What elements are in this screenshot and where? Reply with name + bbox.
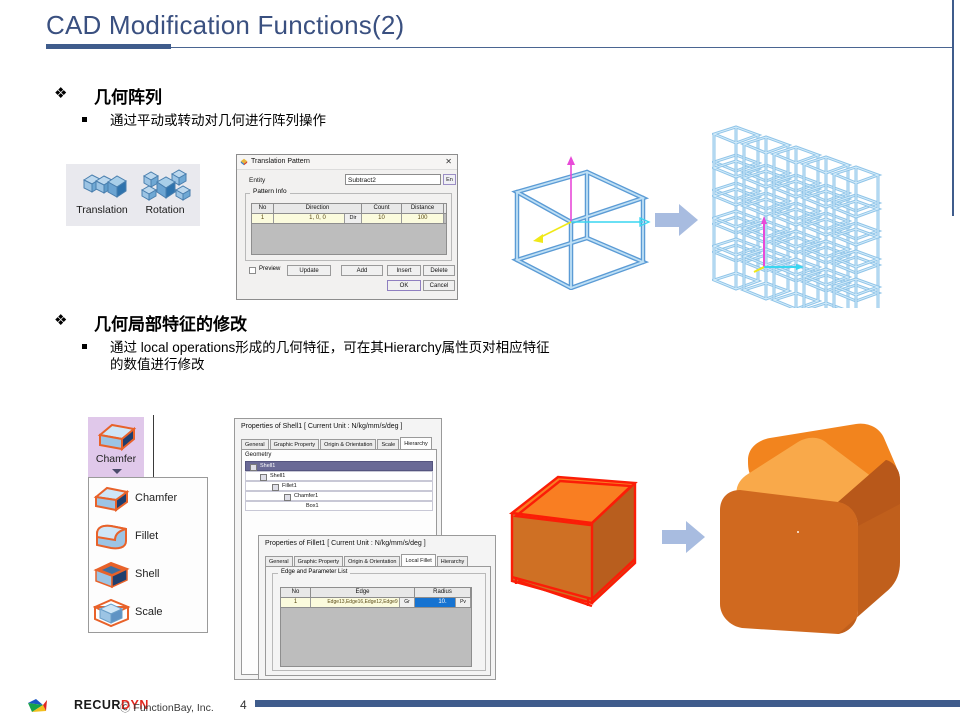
arrow-right-icon-2 <box>660 517 708 557</box>
chamfer-icon <box>96 421 138 453</box>
ribbon-divider <box>153 415 154 480</box>
menu-item-shell[interactable]: Shell <box>93 558 205 592</box>
cell-radius[interactable]: 10. Pv <box>415 598 471 607</box>
pattern-info-grid: No Direction Count Distance 1 1, 0, 0 Di… <box>251 203 447 255</box>
cell-direction[interactable]: 1, 0, 0 Dir <box>274 214 362 223</box>
shell-dialog-title: Properties of Shell1 [ Current Unit : N/… <box>241 423 402 430</box>
square-bullet-icon <box>82 344 87 349</box>
translation-icon <box>70 166 134 204</box>
table-row[interactable]: 1 Edge13,Edge16,Edge12,Edge9 Gr 10. Pv <box>281 598 471 608</box>
menu-item-scale[interactable]: Scale <box>93 596 205 630</box>
diamond-bullet-icon: ❖ <box>54 84 67 102</box>
col-radius: Radius <box>415 588 471 597</box>
footer-accent-bar <box>255 700 960 707</box>
page-title: CAD Modification Functions(2) <box>46 10 404 41</box>
copyright-text: Ⓒ FunctionBay, Inc. <box>120 700 214 715</box>
tree-node-label: Shell1 <box>270 472 285 480</box>
translation-label: Translation <box>70 204 134 216</box>
col-no: No <box>281 588 311 597</box>
cell-edge[interactable]: Edge13,Edge16,Edge12,Edge9 Gr <box>311 598 415 607</box>
cell-edge-text: Edge13,Edge16,Edge12,Edge9 <box>327 599 397 605</box>
close-icon[interactable]: ✕ <box>445 157 452 166</box>
recurdyn-star-icon <box>26 698 66 714</box>
solid-cube-after <box>708 414 926 646</box>
grid-header-row: No Edge Radius <box>281 588 471 598</box>
ok-button[interactable]: OK <box>387 280 421 291</box>
slide-title-bar: CAD Modification Functions(2) <box>0 0 960 52</box>
chamfer-button-label: Chamfer <box>88 453 144 465</box>
menu-item-label: Scale <box>135 606 163 618</box>
rotation-tool-button[interactable]: Rotation <box>134 166 196 224</box>
tree-node-root[interactable]: Shell1 <box>245 461 433 471</box>
solid-cube-before <box>500 455 650 615</box>
dialog-title: Translation Pattern <box>251 158 310 165</box>
translation-pattern-dialog: Translation Pattern ✕ Entity Subtract2 E… <box>236 154 458 300</box>
cell-direction-text: 1, 0, 0 <box>309 215 326 221</box>
wireframe-cube-array-after <box>712 112 910 308</box>
title-accent-bar <box>46 44 171 49</box>
fillet-icon <box>93 522 131 552</box>
page-number: 4 <box>240 698 247 712</box>
edge-parameter-grid: No Edge Radius 1 Edge13,Edge16,Edge12,Ed… <box>280 587 472 667</box>
recurdyn-logo: RECURDYN <box>26 698 118 714</box>
grid-header-row: No Direction Count Distance <box>252 204 446 214</box>
pattern-toolbar: Translation Rotation <box>66 164 200 226</box>
pattern-info-label: Pattern Info <box>250 188 290 195</box>
chamfer-icon <box>93 484 131 514</box>
update-button[interactable]: Update <box>287 265 331 276</box>
fillet-dialog-title: Properties of Fillet1 [ Current Unit : N… <box>265 540 426 547</box>
app-icon <box>240 158 248 166</box>
cancel-button[interactable]: Cancel <box>423 280 455 291</box>
edge-picker-button[interactable]: Gr <box>399 598 414 607</box>
cell-distance: 100 <box>402 214 444 223</box>
table-row[interactable]: 1 1, 0, 0 Dir 10 100 <box>252 214 446 224</box>
tree-node-label: Box1 <box>306 502 319 510</box>
scale-icon <box>93 598 131 628</box>
cell-count: 10 <box>362 214 402 223</box>
col-no: No <box>252 204 274 213</box>
geometry-tree: Shell1 Shell1 Fillet1 Chamfer1 Box1 <box>245 461 433 511</box>
cell-no: 1 <box>281 598 311 607</box>
rotation-icon <box>134 166 196 204</box>
col-direction: Direction <box>274 204 362 213</box>
shell-icon <box>93 560 131 590</box>
arrow-right-icon-1 <box>653 200 701 240</box>
section-1-heading-text: 几何阵列 <box>94 83 162 108</box>
tree-node[interactable]: Box1 <box>245 501 433 511</box>
tree-node-label: Chamfer1 <box>294 492 318 500</box>
right-vertical-rule <box>952 0 954 216</box>
entity-input[interactable]: Subtract2 <box>345 174 441 185</box>
node-icon <box>272 484 279 491</box>
delete-button[interactable]: Delete <box>423 265 455 276</box>
menu-item-label: Shell <box>135 568 159 580</box>
tree-node[interactable]: Chamfer1 <box>245 491 433 501</box>
radius-picker-button[interactable]: Pv <box>455 598 470 607</box>
diamond-bullet-icon: ❖ <box>54 311 67 329</box>
entity-value: Subtract2 <box>348 177 376 184</box>
node-icon <box>260 474 267 481</box>
preview-checkbox[interactable] <box>249 267 256 274</box>
geometry-label: Geometry <box>245 452 271 458</box>
add-button[interactable]: Add <box>341 265 383 276</box>
tree-node[interactable]: Fillet1 <box>245 481 433 491</box>
menu-item-label: Fillet <box>135 530 158 542</box>
menu-item-label: Chamfer <box>135 492 177 504</box>
tree-node-label: Fillet1 <box>282 482 297 490</box>
node-icon <box>296 504 301 509</box>
col-edge: Edge <box>311 588 415 597</box>
menu-item-fillet[interactable]: Fillet <box>93 520 205 554</box>
col-distance: Distance <box>402 204 444 213</box>
direction-picker-button[interactable]: Dir <box>344 214 361 223</box>
col-count: Count <box>362 204 402 213</box>
title-rule <box>46 47 952 48</box>
local-fillet-panel: Edge and Parameter List No Edge Radius 1… <box>265 566 491 676</box>
entity-picker-button[interactable]: En <box>443 174 456 185</box>
section-1-bullet-text: 通过平动或转动对几何进行阵列操作 <box>110 112 326 129</box>
translation-tool-button[interactable]: Translation <box>70 166 134 224</box>
preview-label: Preview <box>259 266 280 272</box>
cell-radius-text: 10. <box>438 599 446 605</box>
tree-node-label: Shell1 <box>260 462 275 470</box>
section-2-bullet-text: 通过 local operations形成的几何特征，可在其Hierarchy属… <box>110 339 552 373</box>
edge-parameter-label: Edge and Parameter List <box>278 569 350 575</box>
chevron-down-icon[interactable] <box>112 469 122 474</box>
entity-label: Entity <box>249 177 265 184</box>
logo-text-1: RECUR <box>74 698 121 712</box>
node-icon <box>284 494 291 501</box>
cell-no: 1 <box>252 214 274 223</box>
section-2-heading-text: 几何局部特征的修改 <box>94 310 247 335</box>
insert-button[interactable]: Insert <box>387 265 421 276</box>
expander-icon[interactable] <box>250 464 257 471</box>
wireframe-cube-before <box>505 150 655 290</box>
chamfer-ribbon-button[interactable]: Chamfer <box>88 417 144 477</box>
fillet-properties-dialog: Properties of Fillet1 [ Current Unit : N… <box>258 535 496 680</box>
square-bullet-icon <box>82 117 87 122</box>
tree-node[interactable]: Shell1 <box>245 471 433 481</box>
menu-item-chamfer[interactable]: Chamfer <box>93 482 205 516</box>
chamfer-dropdown-menu: Chamfer Fillet Shell Scale <box>88 477 208 633</box>
rotation-label: Rotation <box>134 204 196 216</box>
